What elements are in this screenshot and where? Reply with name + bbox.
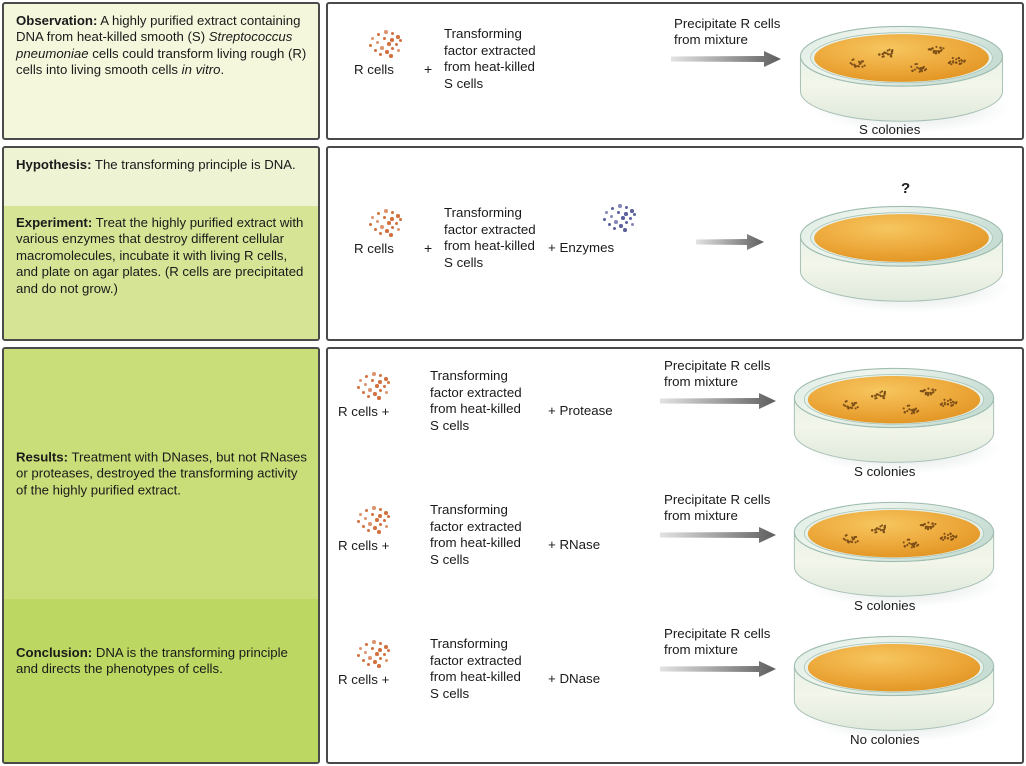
cluster-dot bbox=[383, 653, 386, 656]
cluster-dot bbox=[368, 656, 372, 660]
cluster-dot bbox=[368, 522, 372, 526]
cluster-dot bbox=[371, 37, 374, 40]
cluster-dot bbox=[391, 32, 394, 35]
cluster-dot bbox=[364, 383, 367, 386]
transforming-factor-label: Transforming factor extracted from heat-… bbox=[444, 26, 536, 92]
cluster-dot bbox=[359, 647, 362, 650]
cluster-dot bbox=[385, 391, 388, 394]
cluster-dot bbox=[377, 530, 381, 534]
cluster-dot bbox=[625, 206, 628, 209]
cluster-dot bbox=[629, 217, 632, 220]
enzyme-label: + Enzymes bbox=[548, 240, 614, 255]
cluster-dot bbox=[383, 216, 386, 219]
cluster-dot bbox=[387, 381, 390, 384]
cluster-dot bbox=[399, 39, 402, 42]
cluster-dot bbox=[371, 216, 374, 219]
conclusion-text-block: Conclusion: DNA is the transforming prin… bbox=[4, 645, 318, 678]
process-arrow bbox=[660, 393, 776, 409]
cluster-dot bbox=[374, 49, 377, 52]
cluster-dot bbox=[378, 648, 382, 652]
cluster-dot bbox=[389, 233, 393, 237]
cluster-dot bbox=[383, 519, 386, 522]
cluster-dot bbox=[377, 396, 381, 400]
cluster-dot bbox=[397, 228, 400, 231]
panel-hypothesis-experiment: Hypothesis: The transforming principle i… bbox=[2, 146, 320, 341]
cluster-dot bbox=[371, 647, 374, 650]
enzyme-label: + DNase bbox=[548, 671, 600, 686]
experiment-heading: Experiment: bbox=[16, 215, 92, 230]
conclusion-heading: Conclusion: bbox=[16, 645, 92, 660]
cluster-dot bbox=[396, 214, 400, 218]
dish-caption: S colonies bbox=[854, 598, 915, 613]
row-observation: R cells+Transforming factor extracted fr… bbox=[326, 8, 1020, 138]
question-mark: ? bbox=[901, 180, 910, 197]
cluster-dot bbox=[384, 30, 388, 34]
cluster-dot bbox=[373, 392, 377, 396]
hypothesis-text-block: Hypothesis: The transforming principle i… bbox=[4, 148, 318, 182]
hypothesis-heading: Hypothesis: bbox=[16, 157, 91, 172]
results-heading: Results: bbox=[16, 449, 68, 464]
results-text: Results: Treatment with DNases, but not … bbox=[16, 449, 307, 498]
cluster-dot bbox=[365, 375, 368, 378]
observation-text-block: Observation: A highly purified extract c… bbox=[4, 4, 318, 88]
row-dnase: R cells +Transforming factor extracted f… bbox=[326, 622, 1020, 754]
cluster-dot bbox=[376, 41, 379, 44]
observation-in-vitro: in vitro bbox=[182, 62, 221, 77]
subpanel-experiment: Experiment: Treat the highly purified ex… bbox=[4, 206, 318, 339]
cluster-dot bbox=[399, 218, 402, 221]
subpanel-conclusion: Conclusion: DNA is the transforming prin… bbox=[4, 599, 318, 762]
cluster-dot bbox=[379, 232, 382, 235]
cluster-dot bbox=[608, 223, 611, 226]
cluster-dot bbox=[624, 212, 628, 216]
cluster-dot bbox=[378, 380, 382, 384]
cluster-dot bbox=[367, 395, 370, 398]
petri-dish bbox=[794, 20, 1009, 137]
transforming-factor-label: Transforming factor extracted from heat-… bbox=[430, 502, 522, 568]
arrow-caption: Precipitate R cells from mixture bbox=[664, 492, 770, 525]
cluster-dot bbox=[611, 207, 614, 210]
cluster-dot bbox=[374, 228, 377, 231]
process-arrow bbox=[660, 527, 776, 543]
enzyme-label: + RNase bbox=[548, 537, 600, 552]
cluster-dot bbox=[384, 377, 388, 381]
cluster-dot bbox=[375, 384, 379, 388]
r-cells-label: R cells + bbox=[338, 672, 389, 687]
cluster-dot bbox=[379, 389, 382, 392]
cluster-dot bbox=[377, 664, 381, 668]
r-cells-label: R cells + bbox=[338, 538, 389, 553]
process-arrow bbox=[671, 51, 781, 67]
cluster-dot bbox=[376, 220, 379, 223]
cluster-dot bbox=[379, 53, 382, 56]
cluster-dot bbox=[383, 37, 386, 40]
cluster-dot bbox=[613, 227, 616, 230]
cluster-dot bbox=[385, 525, 388, 528]
cluster-dot bbox=[623, 228, 627, 232]
cluster-dot bbox=[384, 645, 388, 649]
cluster-dot bbox=[375, 652, 379, 656]
subpanel-results: Results: Treatment with DNases, but not … bbox=[4, 349, 318, 599]
cluster-dot bbox=[387, 515, 390, 518]
transformation-experiment-figure: Observation: A highly purified extract c… bbox=[0, 0, 1026, 766]
petri-dish bbox=[794, 200, 1009, 317]
cluster-dot bbox=[377, 33, 380, 36]
cluster-dot bbox=[384, 511, 388, 515]
dish-caption: S colonies bbox=[859, 122, 920, 137]
cluster-dot bbox=[387, 221, 391, 225]
cluster-dot bbox=[357, 386, 360, 389]
cluster-dot bbox=[617, 211, 620, 214]
cluster-dot bbox=[619, 224, 623, 228]
cluster-dot bbox=[387, 649, 390, 652]
cluster-dot bbox=[390, 38, 394, 42]
cluster-dot bbox=[379, 508, 382, 511]
left-narrative-column: Observation: A highly purified extract c… bbox=[2, 2, 320, 764]
enzyme-label: + Protease bbox=[548, 403, 613, 418]
cluster-dot bbox=[378, 514, 382, 518]
cluster-dot bbox=[387, 42, 391, 46]
cluster-dot bbox=[357, 654, 360, 657]
cluster-dot bbox=[373, 526, 377, 530]
cluster-dot bbox=[618, 204, 622, 208]
cluster-dot bbox=[395, 222, 398, 225]
cluster-dot bbox=[379, 374, 382, 377]
cluster-dot bbox=[373, 660, 377, 664]
process-arrow bbox=[660, 661, 776, 677]
enzyme-dot-cluster bbox=[596, 202, 642, 232]
cluster-dot bbox=[610, 215, 613, 218]
cluster-dot bbox=[391, 47, 394, 50]
cluster-dot bbox=[357, 520, 360, 523]
petri-dish bbox=[788, 362, 1000, 478]
conclusion-text: Conclusion: DNA is the transforming prin… bbox=[16, 645, 307, 678]
cluster-dot bbox=[362, 525, 365, 528]
hypothesis-body: The transforming principle is DNA. bbox=[91, 157, 295, 172]
r-cells-label: R cells + bbox=[338, 404, 389, 419]
cluster-dot bbox=[379, 657, 382, 660]
hypothesis-text: Hypothesis: The transforming principle i… bbox=[16, 157, 307, 173]
cluster-dot bbox=[362, 391, 365, 394]
plus-sign-1: + bbox=[424, 240, 432, 256]
row-rnase: R cells +Transforming factor extracted f… bbox=[326, 488, 1020, 620]
cluster-dot bbox=[369, 223, 372, 226]
cluster-dot bbox=[383, 385, 386, 388]
petri-dish bbox=[788, 630, 1000, 746]
experiment-text-block: Experiment: Treat the highly purified ex… bbox=[4, 206, 318, 306]
cluster-dot bbox=[385, 659, 388, 662]
cluster-dot bbox=[372, 506, 376, 510]
cluster-dot bbox=[621, 216, 625, 220]
results-text-block: Results: Treatment with DNases, but not … bbox=[4, 449, 318, 498]
cluster-dot bbox=[633, 213, 636, 216]
right-diagram-column: R cells+Transforming factor extracted fr… bbox=[326, 2, 1024, 764]
cluster-dot bbox=[379, 642, 382, 645]
row-experiment: R cells+Transforming factor extracted fr… bbox=[326, 152, 1020, 337]
cluster-dot bbox=[372, 372, 376, 376]
cluster-dot bbox=[397, 49, 400, 52]
cluster-dot bbox=[605, 211, 608, 214]
r-cells-label: R cells bbox=[354, 241, 394, 256]
panel-observation: Observation: A highly purified extract c… bbox=[2, 2, 320, 140]
cluster-dot bbox=[603, 218, 606, 221]
petri-dish bbox=[788, 496, 1000, 612]
cluster-dot bbox=[368, 388, 372, 392]
cluster-dot bbox=[380, 225, 384, 229]
process-arrow bbox=[696, 234, 764, 250]
panel-results-conclusion: Results: Treatment with DNases, but not … bbox=[2, 347, 320, 764]
cluster-dot bbox=[385, 50, 389, 54]
subpanel-hypothesis: Hypothesis: The transforming principle i… bbox=[4, 148, 318, 206]
cluster-dot bbox=[362, 659, 365, 662]
plus-sign-1: + bbox=[424, 61, 432, 77]
cluster-dot bbox=[614, 220, 618, 224]
cluster-dot bbox=[396, 35, 400, 39]
r-cells-dot-cluster bbox=[362, 207, 408, 237]
cluster-dot bbox=[371, 379, 374, 382]
row-protease: R cells +Transforming factor extracted f… bbox=[326, 354, 1020, 486]
cluster-dot bbox=[364, 651, 367, 654]
arrow-caption: Precipitate R cells from mixture bbox=[664, 626, 770, 659]
cluster-dot bbox=[371, 513, 374, 516]
cluster-dot bbox=[364, 517, 367, 520]
cluster-dot bbox=[365, 509, 368, 512]
cluster-dot bbox=[391, 226, 394, 229]
cluster-dot bbox=[390, 217, 394, 221]
cluster-dot bbox=[365, 643, 368, 646]
r-cells-dot-cluster bbox=[362, 28, 408, 58]
cluster-dot bbox=[630, 209, 634, 213]
cluster-dot bbox=[631, 223, 634, 226]
cluster-dot bbox=[372, 640, 376, 644]
cluster-dot bbox=[625, 221, 628, 224]
cluster-dot bbox=[385, 229, 389, 233]
transforming-factor-label: Transforming factor extracted from heat-… bbox=[430, 368, 522, 434]
cluster-dot bbox=[391, 211, 394, 214]
cluster-dot bbox=[377, 212, 380, 215]
observation-body-3: . bbox=[221, 62, 225, 77]
dish-caption: S colonies bbox=[854, 464, 915, 479]
cluster-dot bbox=[359, 379, 362, 382]
r-cells-label: R cells bbox=[354, 62, 394, 77]
cluster-dot bbox=[367, 663, 370, 666]
cluster-dot bbox=[375, 518, 379, 522]
experiment-text: Experiment: Treat the highly purified ex… bbox=[16, 215, 307, 297]
r-cells-dot-cluster bbox=[350, 638, 396, 668]
observation-text: Observation: A highly purified extract c… bbox=[16, 13, 307, 79]
r-cells-dot-cluster bbox=[350, 504, 396, 534]
transforming-factor-label: Transforming factor extracted from heat-… bbox=[444, 205, 536, 271]
dish-caption: No colonies bbox=[850, 732, 919, 747]
cluster-dot bbox=[384, 209, 388, 213]
arrow-caption: Precipitate R cells from mixture bbox=[664, 358, 770, 391]
cluster-dot bbox=[395, 43, 398, 46]
cluster-dot bbox=[359, 513, 362, 516]
cluster-dot bbox=[379, 523, 382, 526]
cluster-dot bbox=[367, 529, 370, 532]
cluster-dot bbox=[369, 44, 372, 47]
cluster-dot bbox=[380, 46, 384, 50]
cluster-dot bbox=[389, 54, 393, 58]
transforming-factor-label: Transforming factor extracted from heat-… bbox=[430, 636, 522, 702]
arrow-caption: Precipitate R cells from mixture bbox=[674, 16, 780, 49]
observation-heading: Observation: bbox=[16, 13, 97, 28]
r-cells-dot-cluster bbox=[350, 370, 396, 400]
